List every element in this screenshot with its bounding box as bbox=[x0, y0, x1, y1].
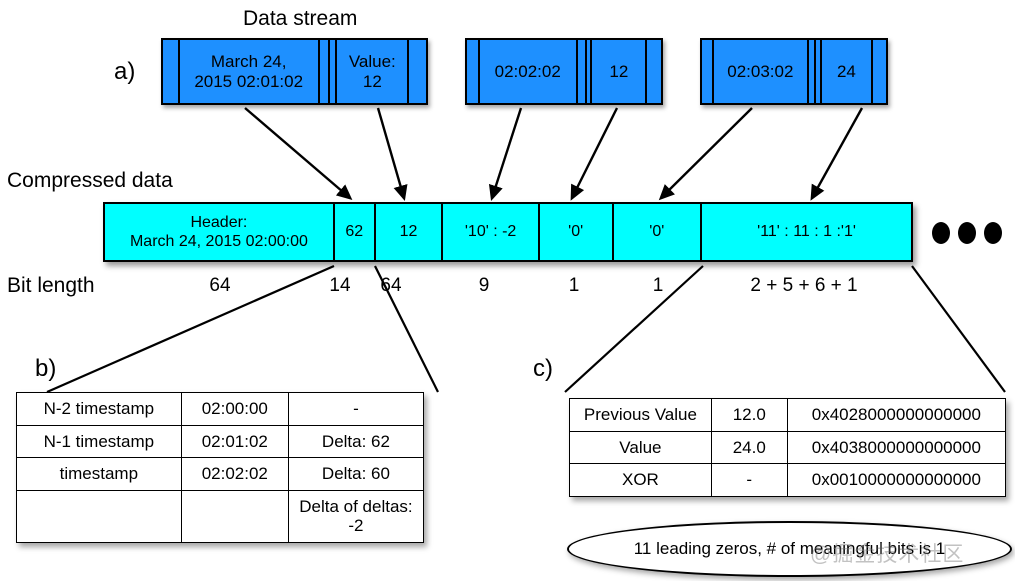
stream-seg-timestamp: 02:02:02 bbox=[480, 40, 578, 103]
stream-seg-edge bbox=[809, 40, 816, 103]
table-row[interactable]: XOR - 0x0010000000000000 bbox=[570, 464, 1006, 497]
bit-length-value-3: 9 bbox=[469, 275, 499, 297]
cell-value: 24.0 bbox=[711, 431, 787, 464]
table-row[interactable]: Previous Value 12.0 0x4028000000000000 bbox=[570, 399, 1006, 432]
bit-length-title: Bit length bbox=[7, 275, 95, 296]
panel-label-b: b) bbox=[35, 357, 56, 381]
bit-length-value-5: 1 bbox=[643, 275, 673, 297]
cell-spacer bbox=[181, 490, 288, 542]
compressed-cell-xor[interactable]: '11' : 11 : 1 :'1' bbox=[702, 204, 911, 260]
cell-spacer bbox=[17, 490, 182, 542]
stream-seg-edge bbox=[163, 40, 180, 103]
continuation-dots bbox=[932, 222, 1002, 244]
cell-label: Value bbox=[570, 431, 712, 464]
compressed-cell-delta-of-deltas[interactable]: '10' : -2 bbox=[443, 204, 540, 260]
data-stream-title: Data stream bbox=[243, 8, 357, 29]
table-row[interactable]: Value 24.0 0x4038000000000000 bbox=[570, 431, 1006, 464]
cell-delta: Delta: 60 bbox=[288, 458, 423, 491]
table-c-values[interactable]: Previous Value 12.0 0x4028000000000000 V… bbox=[569, 398, 1006, 497]
cell-label: N-2 timestamp bbox=[17, 393, 182, 426]
stream-seg-timestamp: March 24, 2015 02:01:02 bbox=[180, 40, 320, 103]
compressed-cell-12[interactable]: 12 bbox=[376, 204, 444, 260]
stream-seg-edge bbox=[578, 40, 587, 103]
bit-length-value-1: 14 bbox=[320, 275, 360, 297]
compressed-cell-zero-1[interactable]: '0' bbox=[540, 204, 614, 260]
table-row[interactable]: timestamp 02:02:02 Delta: 60 bbox=[17, 458, 424, 491]
data-stream-block-1[interactable]: March 24, 2015 02:01:02 Value: 12 bbox=[161, 38, 428, 105]
cell-time: 02:02:02 bbox=[181, 458, 288, 491]
dot-icon bbox=[958, 222, 976, 244]
dot-icon bbox=[984, 222, 1002, 244]
bit-length-value-2: 64 bbox=[371, 275, 411, 297]
compressed-cell-zero-2[interactable]: '0' bbox=[614, 204, 703, 260]
cell-hex: 0x0010000000000000 bbox=[787, 464, 1005, 497]
cell-hex: 0x4028000000000000 bbox=[787, 399, 1005, 432]
panel-label-c: c) bbox=[533, 357, 553, 381]
table-row-footer[interactable]: Delta of deltas: -2 bbox=[17, 490, 424, 542]
cell-delta: - bbox=[288, 393, 423, 426]
table-row[interactable]: N-1 timestamp 02:01:02 Delta: 62 bbox=[17, 425, 424, 458]
stream-seg-value: Value: 12 bbox=[337, 40, 409, 103]
table-b-timestamps[interactable]: N-2 timestamp 02:00:00 - N-1 timestamp 0… bbox=[16, 392, 424, 543]
panel-label-a: a) bbox=[114, 60, 135, 84]
stream-seg-edge bbox=[873, 40, 886, 103]
cell-time: 02:01:02 bbox=[181, 425, 288, 458]
cell-label: timestamp bbox=[17, 458, 182, 491]
bit-length-value-4: 1 bbox=[559, 275, 589, 297]
compressed-cell-header[interactable]: Header: March 24, 2015 02:00:00 bbox=[105, 204, 335, 260]
compressed-data-bar[interactable]: Header: March 24, 2015 02:00:00 62 12 '1… bbox=[103, 202, 913, 262]
bit-length-value-0: 64 bbox=[185, 275, 255, 297]
stream-seg-value: 12 bbox=[592, 40, 647, 103]
dot-icon bbox=[932, 222, 950, 244]
compressed-cell-62[interactable]: 62 bbox=[335, 204, 376, 260]
compressed-data-title: Compressed data bbox=[7, 170, 173, 191]
cell-time: 02:00:00 bbox=[181, 393, 288, 426]
stream-seg-edge bbox=[330, 40, 337, 103]
table-row[interactable]: N-2 timestamp 02:00:00 - bbox=[17, 393, 424, 426]
cell-hex: 0x4038000000000000 bbox=[787, 431, 1005, 464]
stream-seg-edge bbox=[702, 40, 714, 103]
xor-explanation-note: 11 leading zeros, # of meaningful bits i… bbox=[567, 521, 1012, 577]
cell-label: Previous Value bbox=[570, 399, 712, 432]
data-stream-block-3[interactable]: 02:03:02 24 bbox=[700, 38, 888, 105]
cell-label: N-1 timestamp bbox=[17, 425, 182, 458]
cell-value: - bbox=[711, 464, 787, 497]
stream-seg-value: 24 bbox=[822, 40, 873, 103]
bit-length-value-6: 2 + 5 + 6 + 1 bbox=[724, 275, 884, 297]
stream-seg-edge bbox=[409, 40, 426, 103]
cell-delta-of-deltas: Delta of deltas: -2 bbox=[288, 490, 423, 542]
data-stream-block-2[interactable]: 02:02:02 12 bbox=[465, 38, 663, 105]
cell-value: 12.0 bbox=[711, 399, 787, 432]
stream-seg-edge bbox=[320, 40, 331, 103]
note-text: 11 leading zeros, # of meaningful bits i… bbox=[634, 539, 946, 559]
cell-delta: Delta: 62 bbox=[288, 425, 423, 458]
stream-seg-edge bbox=[467, 40, 480, 103]
stream-seg-timestamp: 02:03:02 bbox=[714, 40, 809, 103]
cell-label: XOR bbox=[570, 464, 712, 497]
stream-seg-edge bbox=[647, 40, 661, 103]
